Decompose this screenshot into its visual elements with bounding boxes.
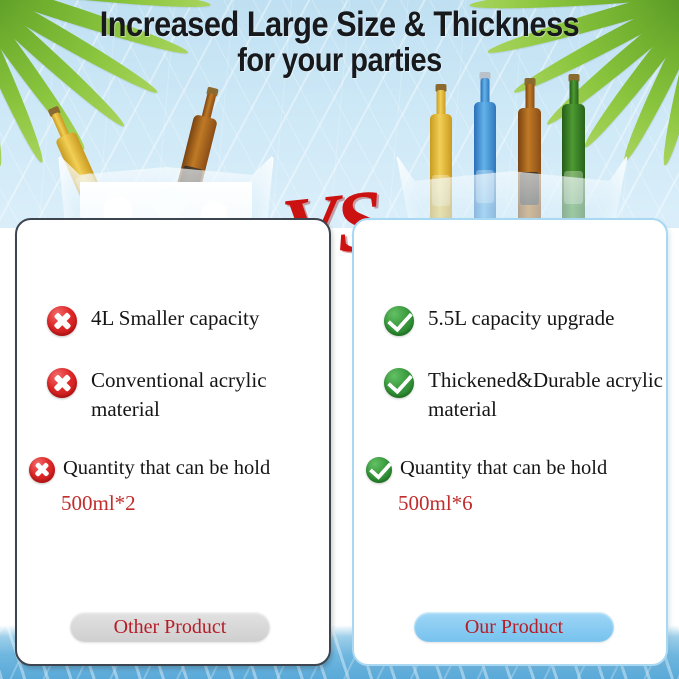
list-item: Conventional acrylic material	[17, 366, 329, 424]
title-line-1: Increased Large Size & Thickness	[100, 5, 580, 44]
bullet-text: Thickened&Durable acrylic material	[428, 366, 666, 424]
red-cross-icon	[29, 457, 55, 483]
title-line-2: for your parties	[41, 43, 639, 78]
other-product-bullet-list: 4L Smaller capacity Conventional acrylic…	[17, 304, 329, 516]
list-item: Thickened&Durable acrylic material	[354, 366, 666, 424]
our-product-bullet-list: 5.5L capacity upgrade Thickened&Durable …	[354, 304, 666, 516]
our-product-label: Our Product	[414, 612, 614, 642]
red-cross-icon	[47, 368, 77, 398]
other-product-label: Other Product	[70, 612, 270, 642]
red-cross-icon	[47, 306, 77, 336]
bullet-text: Quantity that can be hold	[400, 454, 607, 482]
page-title: Increased Large Size & Thickness for you…	[41, 6, 639, 78]
bullet-text: 5.5L capacity upgrade	[428, 304, 614, 333]
green-check-icon	[384, 306, 414, 336]
quantity-value: 500ml*6	[354, 491, 666, 516]
list-item: 4L Smaller capacity	[17, 304, 329, 336]
quantity-value: 500ml*2	[17, 491, 329, 516]
list-item: Quantity that can be hold	[354, 454, 666, 483]
bullet-text: 4L Smaller capacity	[91, 304, 259, 333]
other-product-card: 4L Smaller capacity Conventional acrylic…	[15, 218, 331, 666]
green-check-icon	[384, 368, 414, 398]
list-item: Quantity that can be hold	[17, 454, 329, 483]
bullet-text: Conventional acrylic material	[91, 366, 329, 424]
green-check-icon	[366, 457, 392, 483]
infographic-canvas: Increased Large Size & Thickness for you…	[0, 0, 679, 679]
bullet-text: Quantity that can be hold	[63, 454, 270, 482]
our-product-card: 5.5L capacity upgrade Thickened&Durable …	[352, 218, 668, 666]
list-item: 5.5L capacity upgrade	[354, 304, 666, 336]
